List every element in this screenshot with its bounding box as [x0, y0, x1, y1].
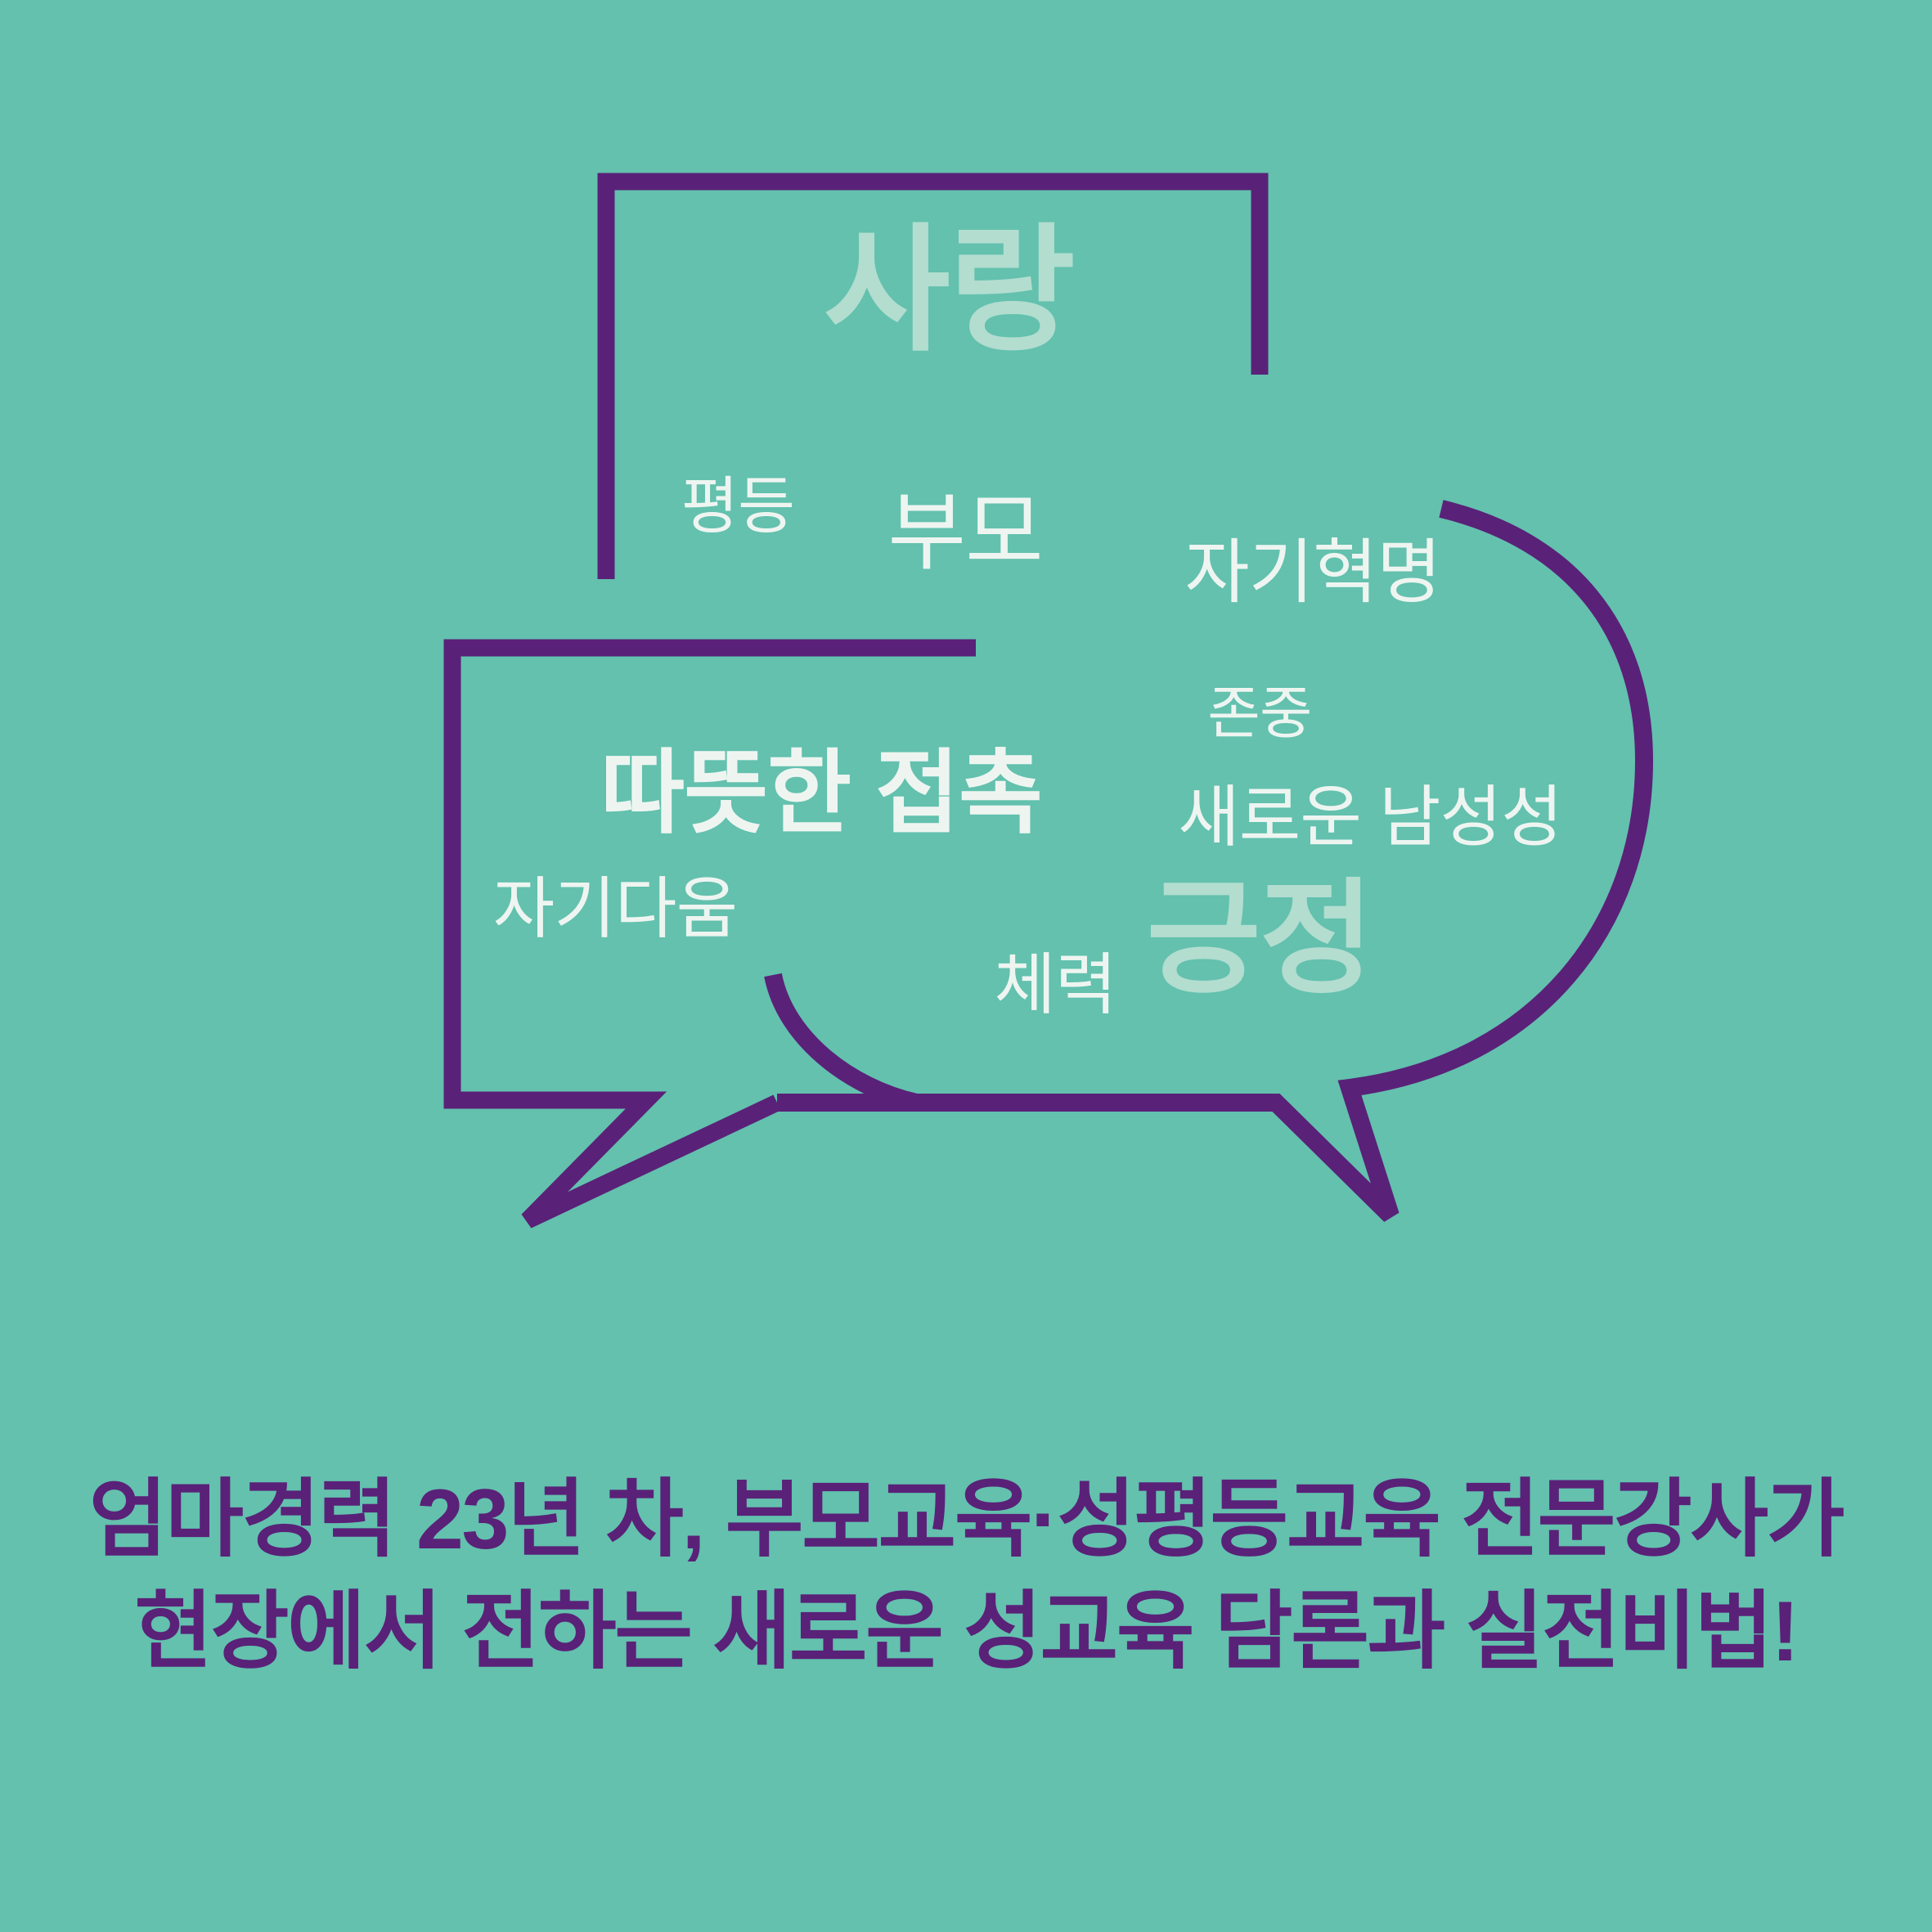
caption-line-2: 현장에서 전하는 새로운 성교육 담론과 실전비법!	[0, 1576, 1932, 1688]
word-ttatteutan-jeopchok: 따뜻한 접촉	[600, 748, 1042, 839]
caption-line-1: 엄마경력 23년 차, 부모교육·성평등교육 전문강사가	[0, 1464, 1932, 1576]
word-saeroun-namseongseong: 새로운 남성성	[1178, 784, 1562, 851]
word-geungjeong: 긍정	[1147, 877, 1373, 1001]
caption-block: 엄마경력 23년 차, 부모교육·성평등교육 전문강사가 현장에서 전하는 새로…	[0, 1464, 1932, 1689]
word-jagihyeokmyeong: 자기혁명	[1184, 537, 1440, 608]
word-jagidaum: 자기다움	[493, 876, 737, 943]
promo-card: 사랑 평등 부모 자기혁명 존중 따뜻한 접촉 새로운 남성성 자기다움 긍정 …	[0, 0, 1932, 1932]
word-cheryeok: 체력	[994, 952, 1116, 1019]
word-sarang: 사랑	[824, 222, 1074, 359]
round-speech-bubble-shape	[777, 509, 1644, 1215]
word-pyeongdeung: 평등	[681, 476, 794, 538]
word-bumo: 부모	[887, 491, 1042, 576]
word-jonjung: 존중	[1207, 685, 1311, 742]
round-bubble-left-flank	[773, 975, 916, 1103]
